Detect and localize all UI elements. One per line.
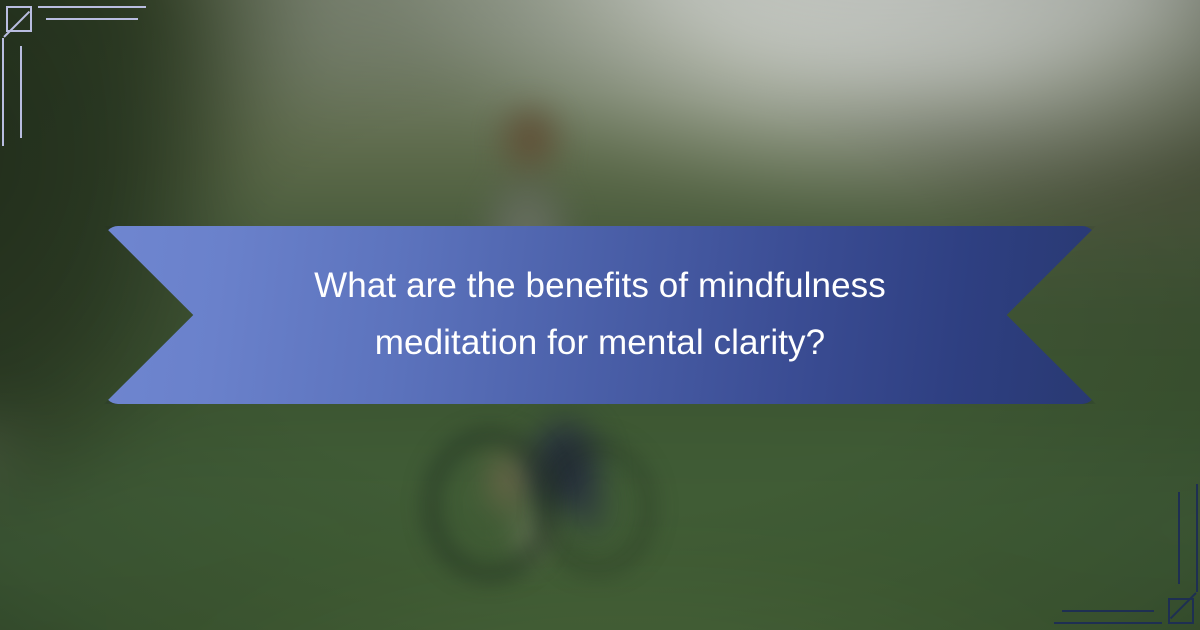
question-ribbon-banner: What are the benefits of mindfulness med… <box>104 226 1096 404</box>
question-text: What are the benefits of mindfulness med… <box>250 258 950 371</box>
question-card: What are the benefits of mindfulness med… <box>0 0 1200 630</box>
